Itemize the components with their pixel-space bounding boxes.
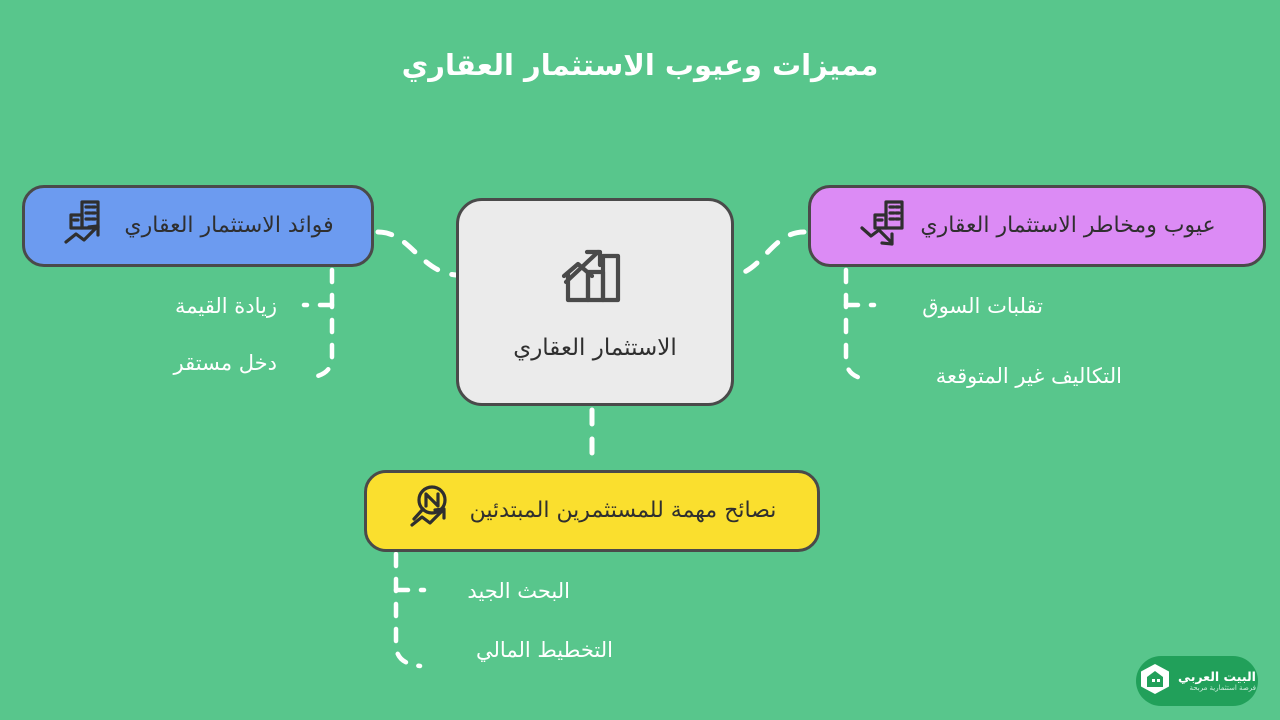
- leaf-tips-1: البحث الجيد: [467, 581, 570, 602]
- leaf-benefits-1: زيادة القيمة: [175, 296, 277, 317]
- brand-logo: البيت العربي فرصة استثمارية مربحة: [1136, 656, 1258, 706]
- node-tips-label: نصائح مهمة للمستثمرين المبتدئين: [470, 499, 777, 523]
- connector-benefits-children: [308, 270, 332, 378]
- node-center-real-estate-investment[interactable]: الاستثمار العقاري: [456, 198, 734, 406]
- leaf-risks-1: تقلبات السوق: [922, 296, 1043, 317]
- building-arrow-up-icon: [62, 198, 112, 254]
- magnifier-arrow-icon: [408, 483, 458, 539]
- page-title: مميزات وعيوب الاستثمار العقاري: [0, 48, 1280, 82]
- node-risks[interactable]: عيوب ومخاطر الاستثمار العقاري: [808, 185, 1266, 267]
- connector-benefits-to-center: [378, 232, 456, 275]
- leaf-risks-2: التكاليف غير المتوقعة: [936, 366, 1122, 387]
- building-arrow-down-icon: [858, 198, 908, 254]
- node-benefits[interactable]: فوائد الاستثمار العقاري: [22, 185, 374, 267]
- logo-text: البيت العربي فرصة استثمارية مربحة: [1178, 670, 1256, 693]
- node-center-label: الاستثمار العقاري: [513, 336, 677, 361]
- leaf-benefits-2: دخل مستقر: [174, 353, 277, 374]
- hexagon-house-icon: [1138, 662, 1172, 700]
- logo-tagline: فرصة استثمارية مربحة: [1189, 684, 1255, 692]
- mindmap-canvas: مميزات وعيوب الاستثمار العقاري الاستثمار…: [0, 0, 1280, 720]
- leaf-tips-2: التخطيط المالي: [476, 640, 613, 661]
- node-risks-label: عيوب ومخاطر الاستثمار العقاري: [920, 214, 1215, 238]
- node-benefits-label: فوائد الاستثمار العقاري: [124, 214, 333, 238]
- connector-tips-children: [396, 554, 420, 666]
- house-bar-chart-growth-icon: [558, 242, 632, 322]
- node-tips[interactable]: نصائح مهمة للمستثمرين المبتدئين: [364, 470, 820, 552]
- connector-risks-children: [846, 270, 870, 380]
- logo-name: البيت العربي: [1178, 670, 1256, 684]
- connector-risks-to-center: [734, 232, 804, 275]
